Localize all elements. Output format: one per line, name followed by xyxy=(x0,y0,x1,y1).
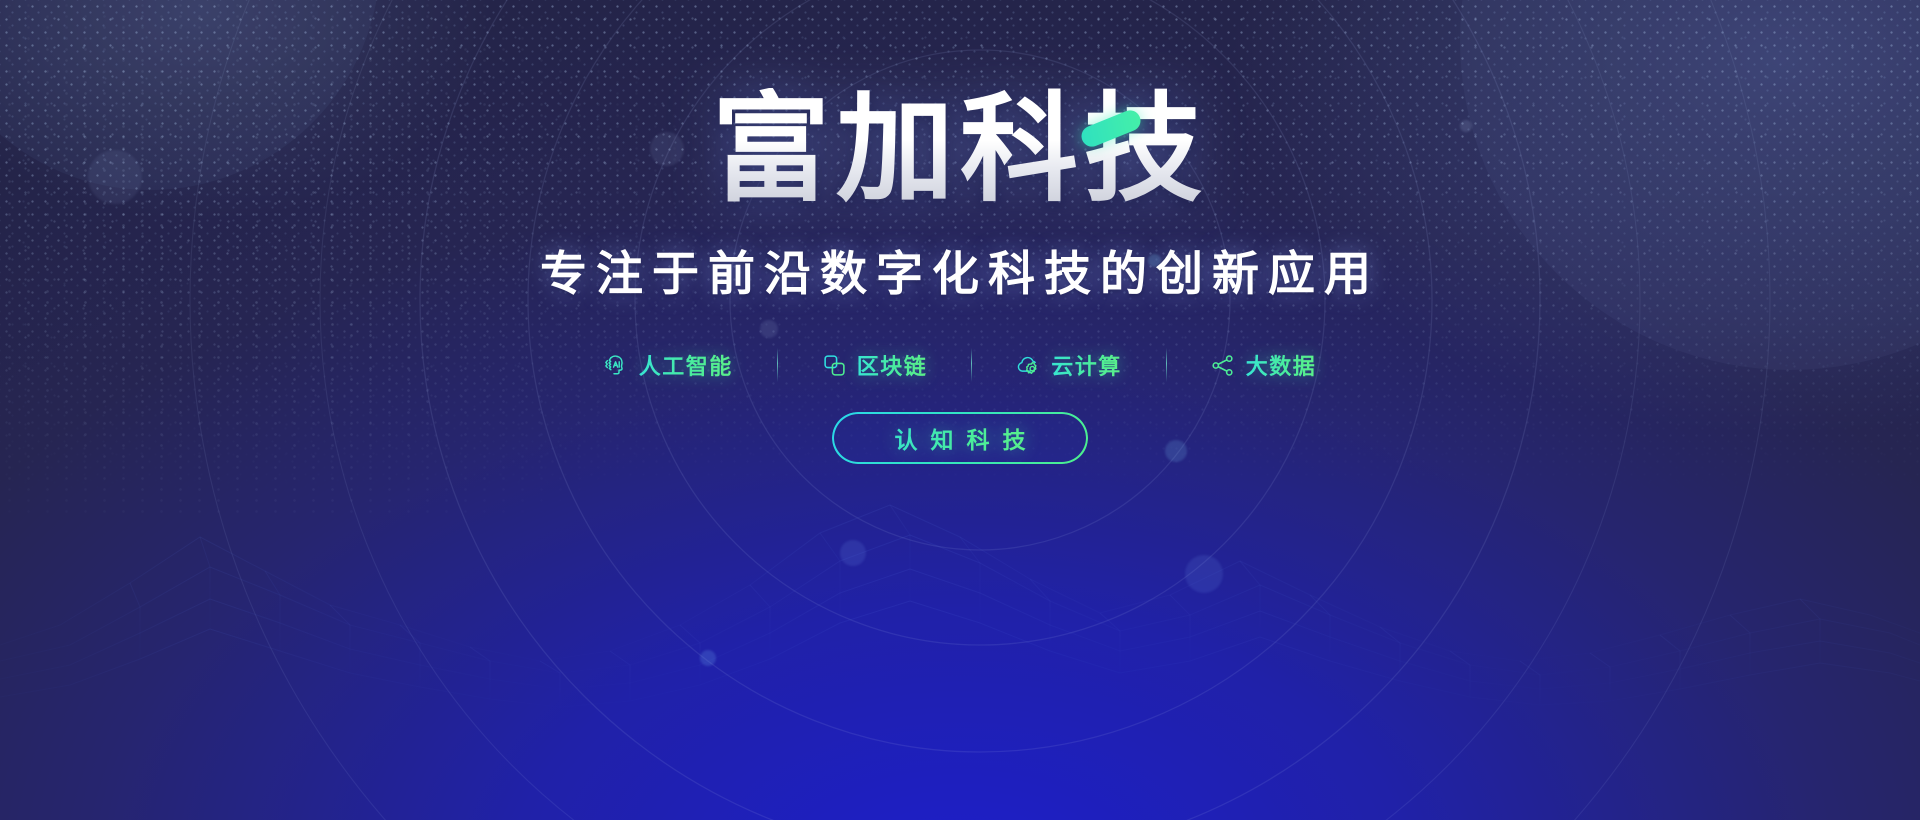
cloud-gear-icon xyxy=(1016,353,1041,378)
feature-tag-bigdata[interactable]: 大数据 xyxy=(1167,349,1361,381)
cta-wrapper: 认知科技 xyxy=(832,412,1088,464)
hero-subtitle: 专注于前沿数字化科技的创新应用 xyxy=(540,235,1380,304)
feature-tag-row: 人工智能 区块链 云计算 xyxy=(560,348,1361,382)
share-nodes-icon xyxy=(1211,353,1236,378)
blockchain-blocks-icon xyxy=(822,353,847,378)
feature-tag-label: 人工智能 xyxy=(639,349,733,381)
feature-tag-blockchain[interactable]: 区块链 xyxy=(778,349,972,381)
feature-tag-label: 云计算 xyxy=(1051,349,1122,381)
feature-tag-label: 大数据 xyxy=(1246,349,1317,381)
hero-banner: 富加科技 专注于前沿数字化科技的创新应用 人工智能 xyxy=(0,0,1920,820)
feature-tag-cloud[interactable]: 云计算 xyxy=(972,349,1166,381)
feature-tag-ai[interactable]: 人工智能 xyxy=(560,349,777,381)
feature-tag-label: 区块链 xyxy=(857,349,928,381)
cognitive-tech-button-label: 认知科技 xyxy=(882,421,1039,455)
brand-title: 富加科技 xyxy=(712,88,1208,213)
cognitive-tech-button[interactable]: 认知科技 xyxy=(832,412,1088,464)
brand-title-text: 富加科技 xyxy=(712,84,1208,216)
ai-head-icon xyxy=(604,353,629,378)
